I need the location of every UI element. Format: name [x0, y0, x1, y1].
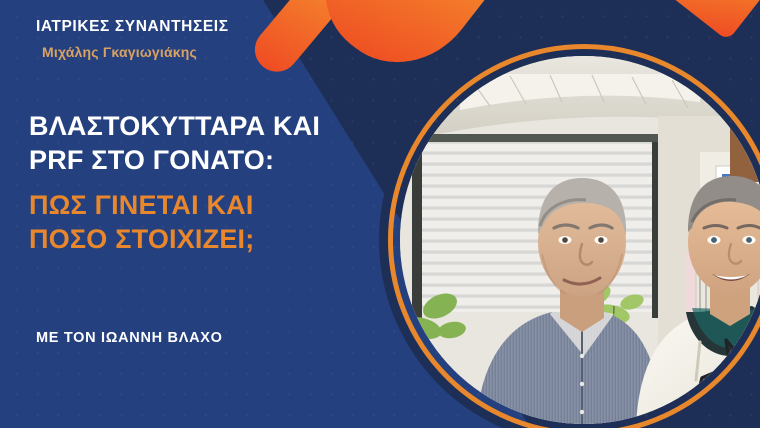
guest-credit-line: ΜΕ ΤΟΝ ΙΩΑΝΝΗ ΒΛΑΧΟ	[36, 330, 223, 346]
headline-line-1: ΒΛΑΣΤΟΚΥΤΤΑΡΑ ΚΑΙ	[29, 109, 389, 143]
channel-kicker: ΙΑΤΡΙΚΕΣ ΣΥΝΑΝΤΗΣΕΙΣ	[36, 18, 229, 36]
thumbnail-canvas: STARTER ΙΑΤΡΙΚΕΣ ΣΥΝΑΝΤΗΣΕΙΣ Μιχάλης Γκα…	[0, 0, 760, 428]
headline-line-3: ΠΩΣ ΓΙΝΕΤΑΙ ΚΑΙ	[29, 188, 389, 222]
orange-corner-wedge-shape	[633, 0, 760, 41]
headline-block: ΒΛΑΣΤΟΚΥΤΤΑΡΑ ΚΑΙ PRF ΣΤΟ ΓΟΝΑΤΟ: ΠΩΣ ΓΙ…	[29, 109, 389, 256]
guest-photo: STARTER	[400, 56, 760, 424]
headline-spacer	[29, 177, 389, 188]
headline-line-2: PRF ΣΤΟ ΓΟΝΑΤΟ:	[29, 143, 389, 177]
headline-line-4: ΠΟΣΟ ΣΤΟΙΧΙΖΕΙ;	[29, 222, 389, 256]
host-byline: Μιχάλης Γκαγιωγιάκης	[42, 44, 197, 60]
